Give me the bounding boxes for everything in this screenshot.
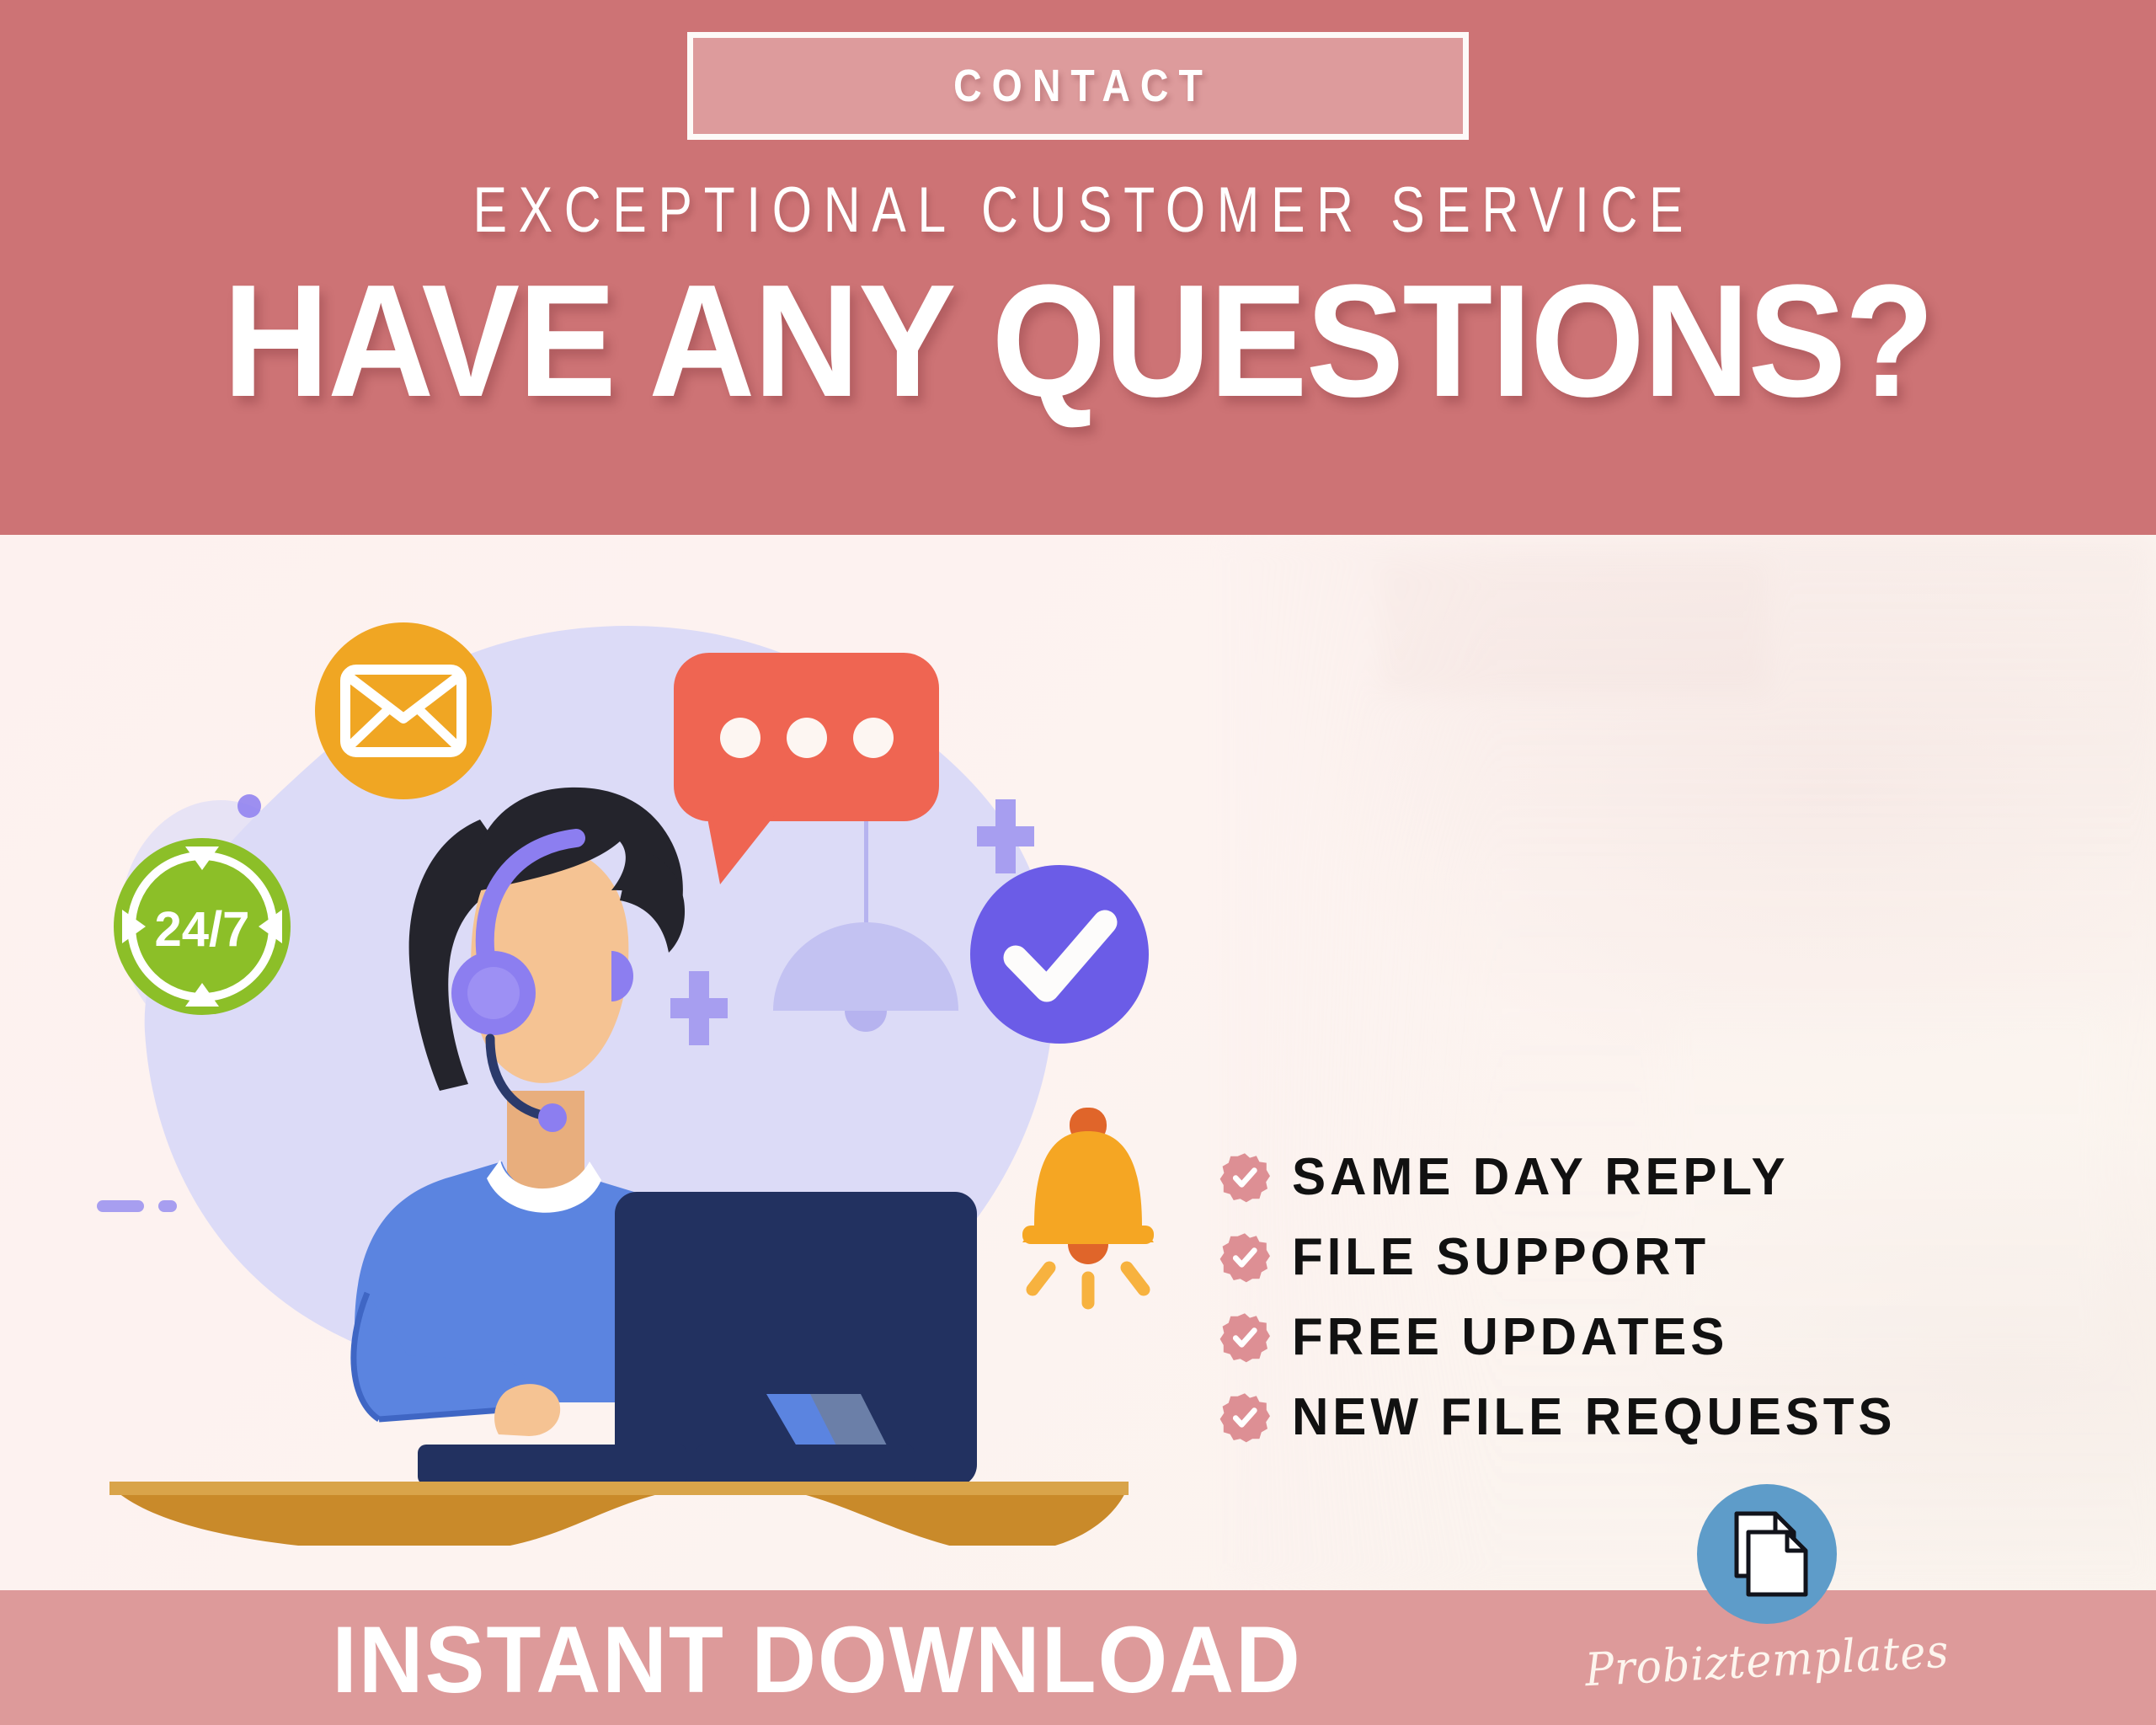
feature-label: NEW FILE REQUESTS bbox=[1292, 1387, 1896, 1447]
badge-24-7-icon: 24/7 bbox=[114, 838, 291, 1015]
bell-icon bbox=[1022, 1108, 1154, 1303]
check-circle-icon bbox=[970, 865, 1149, 1044]
keyboard bbox=[418, 1445, 915, 1485]
logo-circle bbox=[1697, 1484, 1837, 1624]
check-rosette-icon bbox=[1219, 1152, 1270, 1203]
decor-dot bbox=[237, 794, 261, 818]
header-band: CONTACT EXCEPTIONAL CUSTOMER SERVICE HAV… bbox=[0, 0, 2156, 535]
brand-logo[interactable]: Probiztemplates bbox=[1641, 1484, 1893, 1687]
feature-label: FREE UPDATES bbox=[1292, 1307, 1728, 1367]
feature-item: NEW FILE REQUESTS bbox=[1219, 1377, 2062, 1457]
main-content: 24/7 bbox=[0, 535, 2156, 1590]
header-subtitle: EXCEPTIONAL CUSTOMER SERVICE bbox=[216, 174, 1940, 247]
support-illustration: 24/7 bbox=[93, 552, 1187, 1546]
feature-label: FILE SUPPORT bbox=[1292, 1227, 1710, 1287]
feature-label: SAME DAY REPLY bbox=[1292, 1147, 1789, 1207]
feature-item: FREE UPDATES bbox=[1219, 1297, 2062, 1377]
documents-icon bbox=[1716, 1503, 1817, 1605]
contact-badge-box: CONTACT bbox=[687, 32, 1469, 140]
feature-item: SAME DAY REPLY bbox=[1219, 1137, 2062, 1217]
feature-list: SAME DAY REPLY FILE SUPPORT bbox=[1219, 1137, 2062, 1457]
poster-canvas: CONTACT EXCEPTIONAL CUSTOMER SERVICE HAV… bbox=[0, 0, 2156, 1725]
instant-download-label: INSTANT DOWNLOAD bbox=[41, 1605, 1593, 1714]
feature-item: FILE SUPPORT bbox=[1219, 1217, 2062, 1297]
check-rosette-icon bbox=[1219, 1392, 1270, 1443]
envelope-icon bbox=[315, 622, 492, 799]
svg-text:24/7: 24/7 bbox=[155, 902, 250, 957]
contact-badge-label: CONTACT bbox=[943, 60, 1213, 112]
check-rosette-icon bbox=[1219, 1312, 1270, 1363]
check-rosette-icon bbox=[1219, 1232, 1270, 1283]
header-headline: HAVE ANY QUESTIONS? bbox=[86, 261, 2069, 421]
